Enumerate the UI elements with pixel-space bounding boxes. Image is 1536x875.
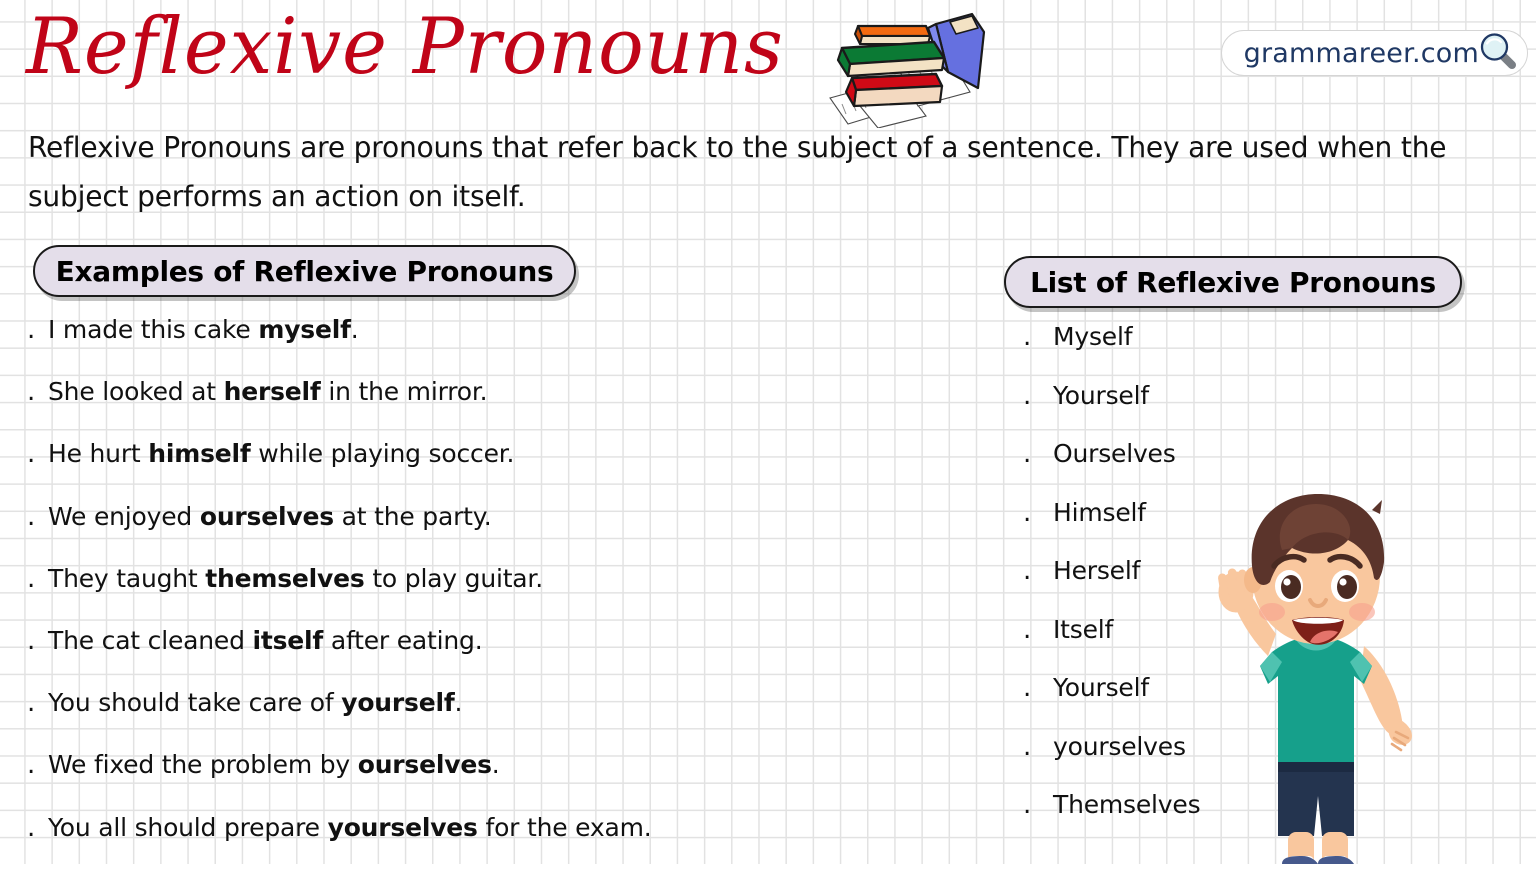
reflexive-pronoun-highlight: myself: [258, 315, 350, 344]
pronoun-list-item: .Myself: [1018, 322, 1348, 381]
reflexive-pronoun-highlight: ourselves: [200, 502, 334, 531]
example-sentence: We fixed the problem by ourselves.: [48, 750, 500, 779]
reflexive-pronoun-highlight: himself: [148, 439, 250, 468]
pronoun-label: Yourself: [1044, 381, 1149, 410]
reflexive-pronoun-highlight: herself: [224, 377, 321, 406]
example-list-item: .We fixed the problem by ourselves.: [22, 750, 722, 812]
bullet-marker-icon: .: [1018, 675, 1044, 701]
examples-heading-label: Examples of Reflexive Pronouns: [56, 255, 554, 288]
intro-paragraph: Reflexive Pronouns are pronouns that ref…: [28, 123, 1446, 221]
pronoun-label: yourselves: [1044, 732, 1186, 761]
pronoun-label: Myself: [1044, 322, 1132, 351]
reflexive-pronoun-highlight: yourselves: [328, 813, 478, 842]
bullet-marker-icon: .: [1018, 324, 1044, 350]
pronoun-label: Themselves: [1044, 790, 1200, 819]
bullet-marker-icon: .: [1018, 734, 1044, 760]
reflexive-pronoun-highlight: yourself: [341, 688, 454, 717]
bullet-marker-icon: .: [22, 752, 48, 778]
example-sentence: He hurt himself while playing soccer.: [48, 439, 514, 468]
reflexive-pronoun-highlight: itself: [253, 626, 324, 655]
example-sentence: The cat cleaned itself after eating.: [48, 626, 482, 655]
example-list-item: .We enjoyed ourselves at the party.: [22, 502, 722, 564]
example-sentence: You all should prepare yourselves for th…: [48, 813, 652, 842]
bullet-marker-icon: .: [1018, 500, 1044, 526]
example-sentence: You should take care of yourself.: [48, 688, 462, 717]
bullet-marker-icon: .: [22, 815, 48, 841]
examples-list: .I made this cake myself..She looked at …: [22, 315, 722, 875]
example-list-item: .They taught themselves to play guitar.: [22, 564, 722, 626]
examples-section-heading: Examples of Reflexive Pronouns: [33, 245, 576, 297]
pronoun-label: Yourself: [1044, 673, 1149, 702]
bullet-marker-icon: .: [1018, 617, 1044, 643]
bullet-marker-icon: .: [22, 504, 48, 530]
bullet-marker-icon: .: [22, 690, 48, 716]
example-sentence: We enjoyed ourselves at the party.: [48, 502, 492, 531]
waving-boy-illustration: [1196, 470, 1446, 864]
bullet-marker-icon: .: [22, 628, 48, 654]
pronoun-label: Ourselves: [1044, 439, 1176, 468]
list-section-heading: List of Reflexive Pronouns: [1004, 256, 1462, 308]
page-title: Reflexive Pronouns: [26, 8, 784, 86]
example-sentence: I made this cake myself.: [48, 315, 359, 344]
pronoun-label: Himself: [1044, 498, 1146, 527]
example-list-item: .I made this cake myself.: [22, 315, 722, 377]
example-list-item: .The cat cleaned itself after eating.: [22, 626, 722, 688]
bullet-marker-icon: .: [1018, 441, 1044, 467]
site-logo-text: grammareer.com: [1244, 38, 1479, 69]
example-sentence: They taught themselves to play guitar.: [48, 564, 543, 593]
magnifying-glass-icon: [1477, 30, 1519, 77]
example-list-item: .You should take care of yourself.: [22, 688, 722, 750]
bullet-marker-icon: .: [22, 566, 48, 592]
bullet-marker-icon: .: [1018, 558, 1044, 584]
example-list-item: .He hurt himself while playing soccer.: [22, 439, 722, 501]
stack-of-books-icon: [822, 6, 1008, 128]
list-heading-label: List of Reflexive Pronouns: [1030, 266, 1436, 299]
bullet-marker-icon: .: [22, 379, 48, 405]
site-logo-badge[interactable]: grammareer.com: [1221, 30, 1528, 76]
bullet-marker-icon: .: [22, 317, 48, 343]
reflexive-pronoun-highlight: themselves: [205, 564, 364, 593]
example-sentence: She looked at herself in the mirror.: [48, 377, 487, 406]
worksheet-page: Reflexive Pronouns: [0, 0, 1536, 864]
pronoun-list-item: .Yourself: [1018, 381, 1348, 440]
bullet-marker-icon: .: [1018, 383, 1044, 409]
example-list-item: .She looked at herself in the mirror.: [22, 377, 722, 439]
pronoun-label: Herself: [1044, 556, 1140, 585]
reflexive-pronoun-highlight: ourselves: [358, 750, 492, 779]
bullet-marker-icon: .: [1018, 792, 1044, 818]
bullet-marker-icon: .: [22, 441, 48, 467]
example-list-item: .You all should prepare yourselves for t…: [22, 813, 722, 875]
pronoun-label: Itself: [1044, 615, 1113, 644]
